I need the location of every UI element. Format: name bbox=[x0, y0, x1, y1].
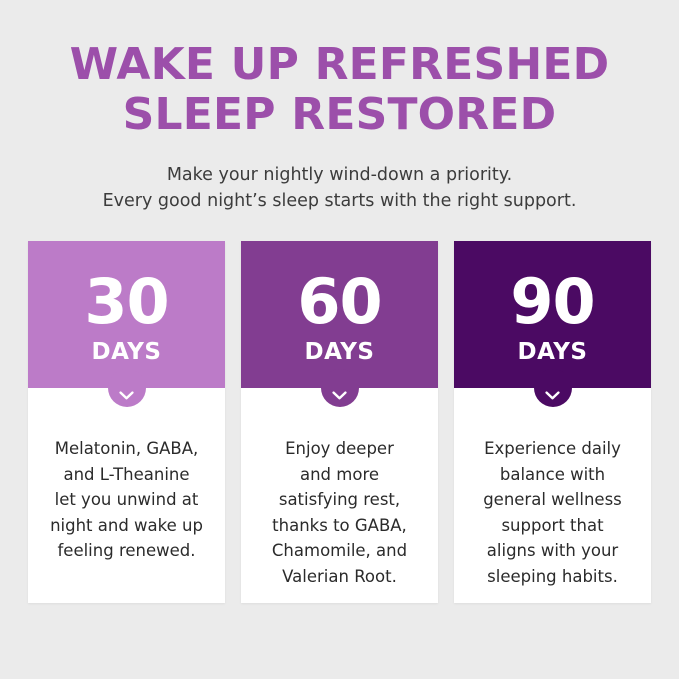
card-header: 90 DAYS bbox=[454, 241, 651, 388]
card-30-days[interactable]: 30 DAYS Melatonin, GABA,and L-Theaninele… bbox=[28, 241, 225, 603]
card-body-line-5: Chamomile, and bbox=[253, 538, 426, 564]
page-title-line-2: SLEEP RESTORED bbox=[0, 90, 679, 140]
chevron-down-badge[interactable] bbox=[108, 369, 146, 407]
card-body-line-2: and more bbox=[253, 462, 426, 488]
card-body-line-6: sleeping habits. bbox=[466, 564, 639, 590]
card-header: 60 DAYS bbox=[241, 241, 438, 388]
chevron-down-icon bbox=[119, 391, 134, 400]
card-body-line-4: thanks to GABA, bbox=[253, 513, 426, 539]
card-body-line-1: Melatonin, GABA, bbox=[40, 436, 213, 462]
promo-infographic: WAKE UP REFRESHED SLEEP RESTORED Make yo… bbox=[0, 0, 679, 679]
card-body-line-3: let you unwind at bbox=[40, 487, 213, 513]
card-body-line-1: Experience daily bbox=[466, 436, 639, 462]
card-body-line-4: support that bbox=[466, 513, 639, 539]
chevron-down-badge[interactable] bbox=[321, 369, 359, 407]
card-number: 30 bbox=[84, 265, 168, 333]
page-title-line-1: WAKE UP REFRESHED bbox=[0, 40, 679, 90]
page-subtitle-line-1: Make your nightly wind-down a priority. bbox=[0, 162, 679, 188]
card-unit-label: DAYS bbox=[92, 333, 162, 365]
card-body-line-1: Enjoy deeper bbox=[253, 436, 426, 462]
card-body: Experience dailybalance withgeneral well… bbox=[454, 388, 651, 603]
card-90-days[interactable]: 90 DAYS Experience dailybalance withgene… bbox=[454, 241, 651, 603]
heading-block: WAKE UP REFRESHED SLEEP RESTORED Make yo… bbox=[0, 40, 679, 214]
card-number: 90 bbox=[510, 265, 594, 333]
page-subtitle-line-2: Every good night’s sleep starts with the… bbox=[0, 188, 679, 214]
chevron-down-icon bbox=[545, 391, 560, 400]
card-body-line-6: Valerian Root. bbox=[253, 564, 426, 590]
card-body-line-5: aligns with your bbox=[466, 538, 639, 564]
card-header: 30 DAYS bbox=[28, 241, 225, 388]
card-body-line-4: night and wake up bbox=[40, 513, 213, 539]
card-body-line-5: feeling renewed. bbox=[40, 538, 213, 564]
page-subtitle: Make your nightly wind-down a priority. … bbox=[0, 140, 679, 214]
card-body-line-2: and L-Theanine bbox=[40, 462, 213, 488]
card-unit-label: DAYS bbox=[305, 333, 375, 365]
card-body-line-3: satisfying rest, bbox=[253, 487, 426, 513]
page-title: WAKE UP REFRESHED SLEEP RESTORED bbox=[0, 40, 679, 140]
chevron-down-icon bbox=[332, 391, 347, 400]
card-list: 30 DAYS Melatonin, GABA,and L-Theaninele… bbox=[28, 241, 651, 603]
card-body-line-3: general wellness bbox=[466, 487, 639, 513]
card-unit-label: DAYS bbox=[518, 333, 588, 365]
card-body: Melatonin, GABA,and L-Theaninelet you un… bbox=[28, 388, 225, 603]
card-body: Enjoy deeperand moresatisfying rest,than… bbox=[241, 388, 438, 603]
card-body-line-2: balance with bbox=[466, 462, 639, 488]
card-number: 60 bbox=[297, 265, 381, 333]
card-60-days[interactable]: 60 DAYS Enjoy deeperand moresatisfying r… bbox=[241, 241, 438, 603]
chevron-down-badge[interactable] bbox=[534, 369, 572, 407]
